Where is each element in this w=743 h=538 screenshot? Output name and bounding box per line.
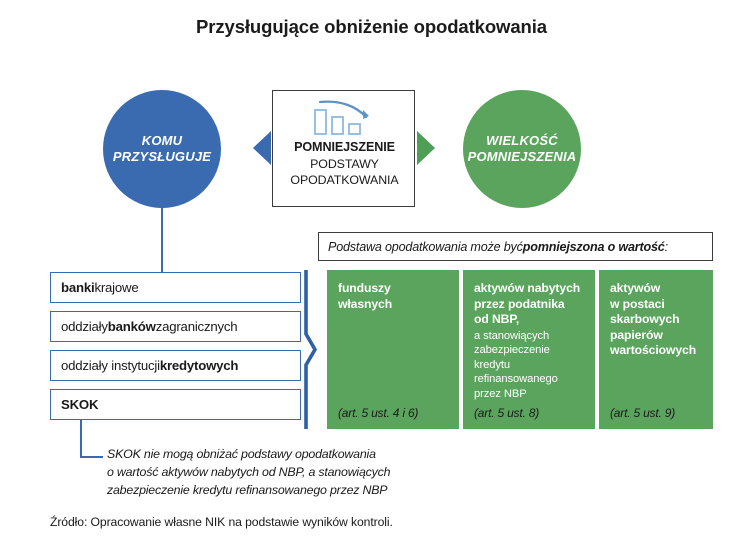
source-line: Źródło: Opracowanie własne NIK na podsta…: [50, 515, 393, 529]
entity-3-bold: kredytowych: [160, 358, 238, 373]
column-3-head: aktywóww postaciskarbowychpapierówwartoś…: [610, 281, 704, 359]
entity-box-oddzialy-bankow-zagranicznych[interactable]: oddziały banków zagranicznych: [50, 311, 301, 342]
center-box-line1: POMNIEJSZENIE: [273, 139, 416, 156]
entity-box-skok[interactable]: SKOK: [50, 389, 301, 420]
connector-skok-vertical: [80, 420, 82, 456]
entity-box-banki-krajowe[interactable]: banki krajowe: [50, 272, 301, 303]
column-1-head: funduszywłasnych: [338, 281, 450, 312]
entity-1-plain: krajowe: [94, 280, 138, 295]
footnote-line1: SKOK nie mogą obniżać podstawy opodatkow…: [107, 446, 487, 464]
value-column-skarbowe-papiery: aktywóww postaciskarbowychpapierówwartoś…: [599, 270, 713, 429]
entity-2-plain: zagranicznych: [156, 319, 238, 334]
brace-chevron-icon: [303, 270, 318, 429]
column-2-head: aktywów nabytychprzez podatnikaod NBP,: [474, 281, 586, 328]
infographic-canvas: Przysługujące obniżenie opodatkowania KO…: [0, 0, 743, 538]
value-column-fundusze-wlasne: funduszywłasnych (art. 5 ust. 4 i 6): [327, 270, 459, 429]
entity-4-bold: SKOK: [61, 397, 98, 412]
center-box-line2: PODSTAWY: [273, 156, 416, 173]
circle-right-line1: WIELKOŚĆ: [468, 133, 577, 149]
entity-3-prefix: oddziały instytucji: [61, 358, 160, 373]
column-2-sub: a stanowiącychzabezpieczeniekredyturefin…: [474, 329, 586, 401]
entity-box-oddzialy-instytucji-kredytowych[interactable]: oddziały instytucji kredytowych: [50, 350, 301, 381]
declining-bar-chart-icon: [306, 97, 382, 139]
arrow-left-triangle-icon: [253, 131, 271, 165]
center-box-line3: OPODATKOWANIA: [273, 172, 416, 189]
circle-left-line1: KOMU: [113, 133, 211, 149]
entity-2-prefix: oddziały: [61, 319, 108, 334]
circle-komu-przysluguje: KOMU PRZYSŁUGUJE: [103, 90, 221, 208]
footnote-line3: zabezpieczenie kredytu refinansowanego p…: [107, 482, 487, 500]
center-box-pomniejszenie: POMNIEJSZENIE PODSTAWY OPODATKOWANIA: [272, 90, 415, 207]
column-2-ref: (art. 5 ust. 8): [474, 406, 539, 420]
entity-1-bold: banki: [61, 280, 94, 295]
connector-circle-to-boxes: [161, 206, 163, 272]
column-3-ref: (art. 5 ust. 9): [610, 406, 675, 420]
circle-right-line2: POMNIEJSZENIA: [468, 149, 577, 165]
value-column-aktywa-nbp: aktywów nabytychprzez podatnikaod NBP, a…: [463, 270, 595, 429]
banner-text-bold: pomniejszona o wartość: [523, 240, 665, 254]
center-box-text: POMNIEJSZENIE PODSTAWY OPODATKOWANIA: [273, 139, 416, 189]
connector-skok-horizontal: [80, 456, 103, 458]
column-1-ref: (art. 5 ust. 4 i 6): [338, 406, 418, 420]
footnote-skok: SKOK nie mogą obniżać podstawy opodatkow…: [107, 446, 487, 500]
circle-left-line2: PRZYSŁUGUJE: [113, 149, 211, 165]
banner-text-tail: :: [665, 240, 668, 254]
page-title: Przysługujące obniżenie opodatkowania: [0, 16, 743, 38]
entity-2-bold: banków: [108, 319, 156, 334]
footnote-line2: o wartość aktywów nabytych od NBP, a sta…: [107, 464, 487, 482]
circle-wielkosc-pomniejszenia: WIELKOŚĆ POMNIEJSZENIA: [463, 90, 581, 208]
arrow-right-triangle-icon: [417, 131, 435, 165]
banner-text-plain: Podstawa opodatkowania może być: [328, 240, 523, 254]
banner-podstawa-opodatkowania: Podstawa opodatkowania może być pomniejs…: [318, 232, 713, 261]
